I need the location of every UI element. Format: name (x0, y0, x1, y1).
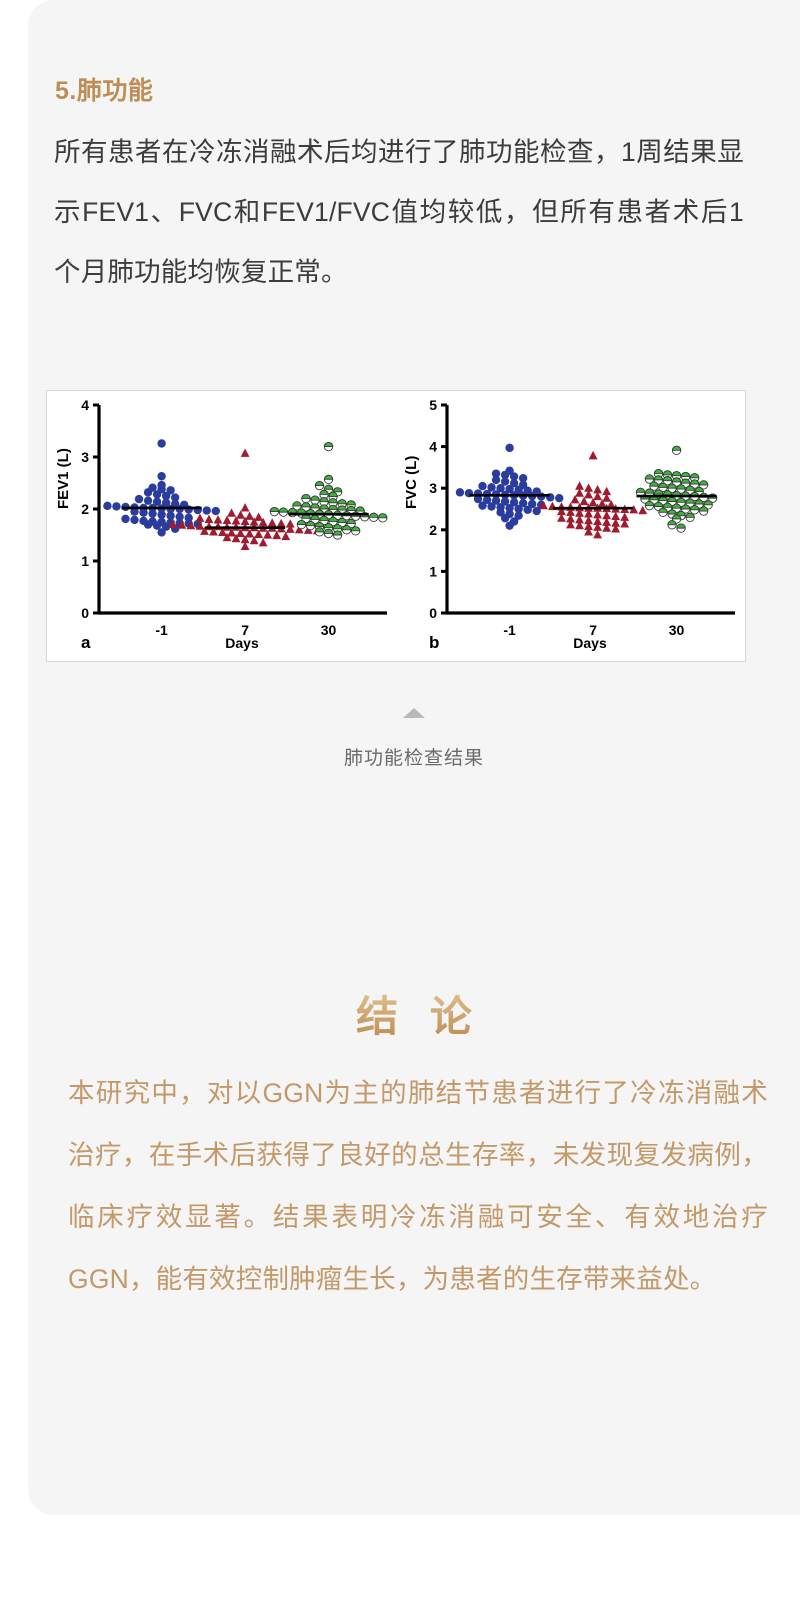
svg-text:0: 0 (81, 605, 89, 621)
figure-caption: 肺功能检查结果 (28, 743, 800, 770)
chart-a-ylabel: FEV1 (L) (55, 448, 72, 509)
conclusion-title: 结 论 (28, 983, 800, 1044)
triangle-up-icon (403, 708, 425, 718)
chart-a-svg: 01234-1730 (47, 391, 397, 663)
chart-b-ylabel: FVC (L) (403, 456, 420, 509)
svg-text:3: 3 (429, 480, 437, 496)
chart-b-panel-letter: b (429, 633, 439, 653)
chart-b-svg: 012345-1730 (395, 391, 745, 663)
section-heading: 5.肺功能 (55, 71, 153, 107)
svg-text:0: 0 (429, 605, 437, 621)
chart-b-xlabel: Days (395, 635, 745, 651)
chart-panel-b: 012345-1730 FVC (L) Days b (395, 391, 745, 663)
svg-text:5: 5 (429, 397, 437, 413)
section-body-paragraph: 所有患者在冷冻消融术后均进行了肺功能检查，1周结果显示FEV1、FVC和FEV1… (54, 122, 744, 302)
svg-text:2: 2 (81, 501, 89, 517)
svg-text:3: 3 (81, 449, 89, 465)
lung-function-figure: 01234-1730 FEV1 (L) Days a 012345-1730 F… (46, 390, 746, 662)
chart-panel-a: 01234-1730 FEV1 (L) Days a (47, 391, 397, 663)
svg-text:4: 4 (429, 439, 437, 455)
chart-a-xlabel: Days (47, 635, 397, 651)
conclusion-body-paragraph: 本研究中，对以GGN为主的肺结节患者进行了冷冻消融术治疗，在手术后获得了良好的总… (68, 1062, 768, 1310)
article-card: 5.肺功能 所有患者在冷冻消融术后均进行了肺功能检查，1周结果显示FEV1、FV… (28, 0, 800, 1515)
svg-text:2: 2 (429, 522, 437, 538)
svg-text:4: 4 (81, 397, 89, 413)
svg-text:1: 1 (429, 563, 437, 579)
chart-a-panel-letter: a (81, 633, 90, 653)
svg-text:1: 1 (81, 553, 89, 569)
